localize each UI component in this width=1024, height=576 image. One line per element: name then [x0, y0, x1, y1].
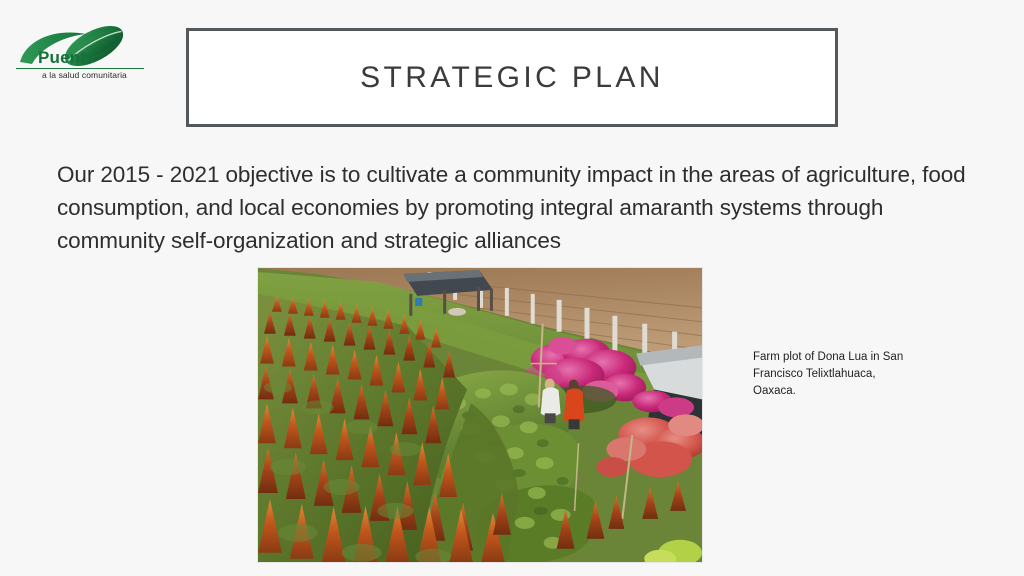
- logo-tagline: a la salud comunitaria: [42, 70, 127, 80]
- page-title: STRATEGIC PLAN: [360, 61, 664, 95]
- caption-line-1: Farm plot of Dona Lua in San: [753, 349, 953, 366]
- objective-paragraph: Our 2015 - 2021 objective is to cultivat…: [57, 158, 992, 257]
- farm-plot-image: [258, 268, 702, 563]
- logo-divider-rule: [16, 68, 144, 69]
- puente-logo: Puente a la salud comunitaria: [16, 24, 144, 84]
- logo-wordmark: Puente: [38, 49, 96, 66]
- caption-line-2: Francisco Telixtlahuaca,: [753, 366, 953, 383]
- slide-canvas: Puente a la salud comunitaria STRATEGIC …: [0, 0, 1024, 576]
- farm-plot-photograph: [257, 267, 703, 563]
- title-box: STRATEGIC PLAN: [186, 28, 838, 127]
- caption-line-3: Oaxaca.: [753, 383, 953, 400]
- photo-caption: Farm plot of Dona Lua in San Francisco T…: [753, 349, 953, 400]
